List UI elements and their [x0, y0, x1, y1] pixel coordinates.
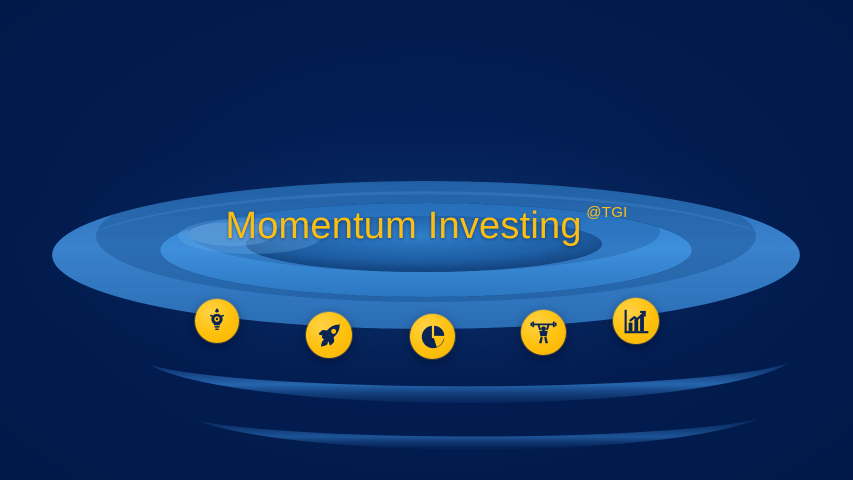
bar-chart-up-icon: [623, 308, 650, 335]
icon-badge-rocket[interactable]: [306, 312, 352, 358]
lightbulb-icon: [204, 308, 230, 334]
weightlifter-icon: [530, 319, 557, 346]
icon-badge-lightbulb[interactable]: [195, 299, 239, 343]
pie-chart-icon: [420, 324, 446, 350]
rocket-icon: [316, 322, 343, 349]
ring-highlight-left-2: [188, 222, 276, 246]
slide-canvas: Momentum Investing @TGI: [0, 0, 853, 480]
icon-badge-pie-chart[interactable]: [410, 314, 455, 359]
orbit-stage-graphic: [0, 0, 853, 480]
icon-badge-weightlifter[interactable]: [521, 310, 566, 355]
icon-badge-bar-chart-up[interactable]: [613, 298, 659, 344]
lower-arc-2: [198, 418, 760, 449]
